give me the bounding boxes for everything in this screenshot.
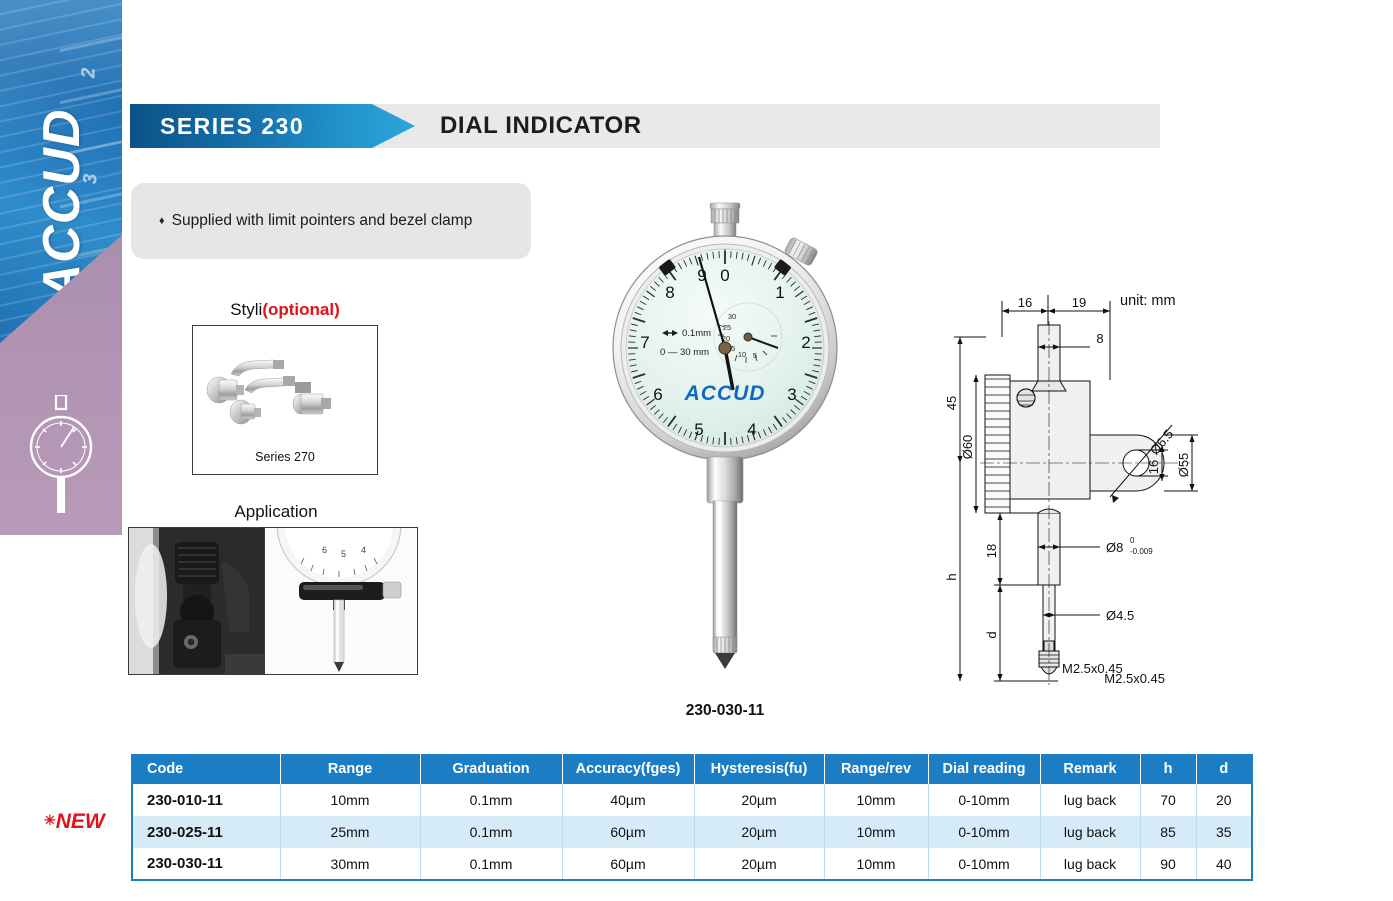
application-title: Application bbox=[128, 502, 424, 522]
cell-range: 10mm bbox=[280, 784, 420, 816]
col-range-rev: Range/rev bbox=[824, 754, 928, 784]
col-accuracy: Accuracy(fges) bbox=[562, 754, 694, 784]
cell-graduation: 0.1mm bbox=[420, 784, 562, 816]
col-code: Code bbox=[132, 754, 280, 784]
svg-text:ACCUD: ACCUD bbox=[684, 382, 766, 405]
col-remark: Remark bbox=[1040, 754, 1140, 784]
svg-text:10: 10 bbox=[738, 350, 746, 359]
dim-h: h bbox=[944, 573, 959, 580]
dial-clamp-photo: 6 5 4 bbox=[265, 528, 417, 674]
asterisk-icon: ✳ bbox=[44, 812, 56, 828]
cell-range: 30mm bbox=[280, 848, 420, 880]
cell-hysteresis: 20µm bbox=[694, 848, 824, 880]
dim-dia45: Ø4.5 bbox=[1106, 608, 1134, 623]
dim-d: d bbox=[984, 631, 999, 638]
svg-text:5: 5 bbox=[341, 549, 346, 559]
cell-range-rev: 10mm bbox=[824, 816, 928, 848]
cell-range-rev: 10mm bbox=[824, 784, 928, 816]
styli-title-optional: (optional) bbox=[262, 300, 339, 319]
svg-text:7: 7 bbox=[640, 333, 649, 352]
col-d: d bbox=[1196, 754, 1252, 784]
technical-drawing: 16 19 8 M2.5x0.45 Ø8 0 -0.009 Ø4.5 M2.5x… bbox=[940, 285, 1220, 695]
table-row: 230-030-11 30mm 0.1mm 60µm 20µm 10mm 0-1… bbox=[132, 848, 1252, 880]
series-arrow-badge: SERIES 230 bbox=[130, 104, 415, 148]
application-section: Application bbox=[128, 502, 424, 675]
svg-text:8: 8 bbox=[665, 283, 674, 302]
feature-text: Supplied with limit pointers and bezel c… bbox=[172, 212, 473, 230]
product-photo: 0 1 2 3 4 5 6 7 8 9 0.1mm 0 — 30 mm bbox=[600, 185, 850, 685]
dim-8: 8 bbox=[1096, 331, 1103, 346]
table-row: 230-025-11 25mm 0.1mm 60µm 20µm 10mm 0-1… bbox=[132, 816, 1252, 848]
diamond-bullet-icon: ♦ bbox=[159, 215, 165, 227]
svg-text:4: 4 bbox=[747, 420, 756, 439]
dial-indicator-photo: 0 1 2 3 4 5 6 7 8 9 0.1mm 0 — 30 mm bbox=[600, 185, 850, 685]
sidebar-lower-spacer bbox=[0, 535, 122, 901]
cell-graduation: 0.1mm bbox=[420, 816, 562, 848]
cell-code: 230-025-11 bbox=[132, 816, 280, 848]
table-header-row: Code Range Graduation Accuracy(fges) Hys… bbox=[132, 754, 1252, 784]
dim-thread: M2.5x0.45 bbox=[1062, 661, 1123, 676]
cell-accuracy: 40µm bbox=[562, 784, 694, 816]
cell-dial-reading: 0-10mm bbox=[928, 816, 1040, 848]
cell-code: 230-010-11 bbox=[132, 784, 280, 816]
svg-text:0: 0 bbox=[720, 266, 729, 285]
svg-text:1: 1 bbox=[775, 283, 784, 302]
dim-18: 18 bbox=[984, 544, 999, 558]
styli-image-box: Series 270 bbox=[192, 325, 378, 475]
cell-accuracy: 60µm bbox=[562, 848, 694, 880]
application-photo-holder bbox=[129, 528, 265, 674]
dim-dia8-tol-upper: 0 bbox=[1130, 536, 1135, 545]
svg-text:0 — 30 mm: 0 — 30 mm bbox=[660, 347, 709, 358]
dim-dia8-tol-lower: -0.009 bbox=[1130, 547, 1153, 556]
svg-text:5: 5 bbox=[694, 420, 703, 439]
svg-text:3: 3 bbox=[787, 385, 796, 404]
magnetic-stand-photo bbox=[129, 528, 265, 674]
new-badge: ✳NEW bbox=[44, 810, 105, 834]
svg-text:6: 6 bbox=[322, 545, 327, 555]
cell-range: 25mm bbox=[280, 816, 420, 848]
styli-section: Styli(optional) bbox=[135, 300, 435, 475]
table-row: 230-010-11 10mm 0.1mm 40µm 20µm 10mm 0-1… bbox=[132, 784, 1252, 816]
svg-text:0.1mm: 0.1mm bbox=[682, 328, 711, 339]
dial-indicator-outline-icon bbox=[28, 395, 94, 515]
cell-remark: lug back bbox=[1040, 784, 1140, 816]
col-h: h bbox=[1140, 754, 1196, 784]
col-range: Range bbox=[280, 754, 420, 784]
svg-text:30: 30 bbox=[728, 312, 736, 321]
cell-dial-reading: 0-10mm bbox=[928, 784, 1040, 816]
svg-text:5: 5 bbox=[753, 351, 757, 360]
cell-range-rev: 10mm bbox=[824, 848, 928, 880]
series-label: SERIES 230 bbox=[130, 113, 304, 140]
svg-text:25: 25 bbox=[723, 323, 731, 332]
svg-text:6: 6 bbox=[653, 385, 662, 404]
cell-h: 90 bbox=[1140, 848, 1196, 880]
cell-h: 85 bbox=[1140, 816, 1196, 848]
dim-dia8: Ø8 bbox=[1106, 540, 1123, 555]
svg-text:4: 4 bbox=[361, 545, 366, 555]
col-dial-reading: Dial reading bbox=[928, 754, 1040, 784]
feature-callout-box: ♦ Supplied with limit pointers and bezel… bbox=[131, 183, 531, 259]
col-graduation: Graduation bbox=[420, 754, 562, 784]
cell-h: 70 bbox=[1140, 784, 1196, 816]
specification-table: Code Range Graduation Accuracy(fges) Hys… bbox=[131, 754, 1253, 881]
cell-remark: lug back bbox=[1040, 816, 1140, 848]
application-image-box: 6 5 4 bbox=[128, 527, 418, 675]
cell-hysteresis: 20µm bbox=[694, 784, 824, 816]
dim-dia65: Ø6.5 bbox=[1147, 426, 1177, 457]
sidebar-ruler-number-1: 2 bbox=[78, 68, 100, 79]
cell-d: 20 bbox=[1196, 784, 1252, 816]
svg-text:2: 2 bbox=[801, 333, 810, 352]
application-photo-clamp: 6 5 4 bbox=[265, 528, 417, 674]
page-header: SERIES 230 DIAL INDICATOR bbox=[130, 104, 1160, 148]
dim-lug-16: 16 bbox=[1146, 460, 1161, 474]
dim-dia60: Ø60 bbox=[960, 435, 975, 460]
dim-dia55: Ø55 bbox=[1176, 453, 1191, 478]
col-hysteresis: Hysteresis(fu) bbox=[694, 754, 824, 784]
cell-code: 230-030-11 bbox=[132, 848, 280, 880]
styli-series-caption: Series 270 bbox=[193, 450, 377, 464]
sidebar: 2 3 2 1 ACCUD bbox=[0, 0, 122, 535]
dim-19-top: 19 bbox=[1072, 295, 1086, 310]
cell-hysteresis: 20µm bbox=[694, 816, 824, 848]
cell-d: 40 bbox=[1196, 848, 1252, 880]
dimension-drawing: 16 19 8 M2.5x0.45 Ø8 0 -0.009 Ø4.5 M2.5x… bbox=[940, 285, 1220, 695]
styli-accessories-image bbox=[193, 332, 379, 442]
dim-45: 45 bbox=[944, 396, 959, 410]
cell-dial-reading: 0-10mm bbox=[928, 848, 1040, 880]
new-label: NEW bbox=[56, 810, 105, 833]
dim-16-top: 16 bbox=[1018, 295, 1032, 310]
cell-d: 35 bbox=[1196, 816, 1252, 848]
styli-title: Styli(optional) bbox=[135, 300, 435, 320]
product-code-caption: 230-030-11 bbox=[600, 702, 850, 720]
cell-accuracy: 60µm bbox=[562, 816, 694, 848]
page-title: DIAL INDICATOR bbox=[440, 104, 642, 148]
cell-remark: lug back bbox=[1040, 848, 1140, 880]
cell-graduation: 0.1mm bbox=[420, 848, 562, 880]
styli-title-main: Styli bbox=[230, 300, 262, 319]
